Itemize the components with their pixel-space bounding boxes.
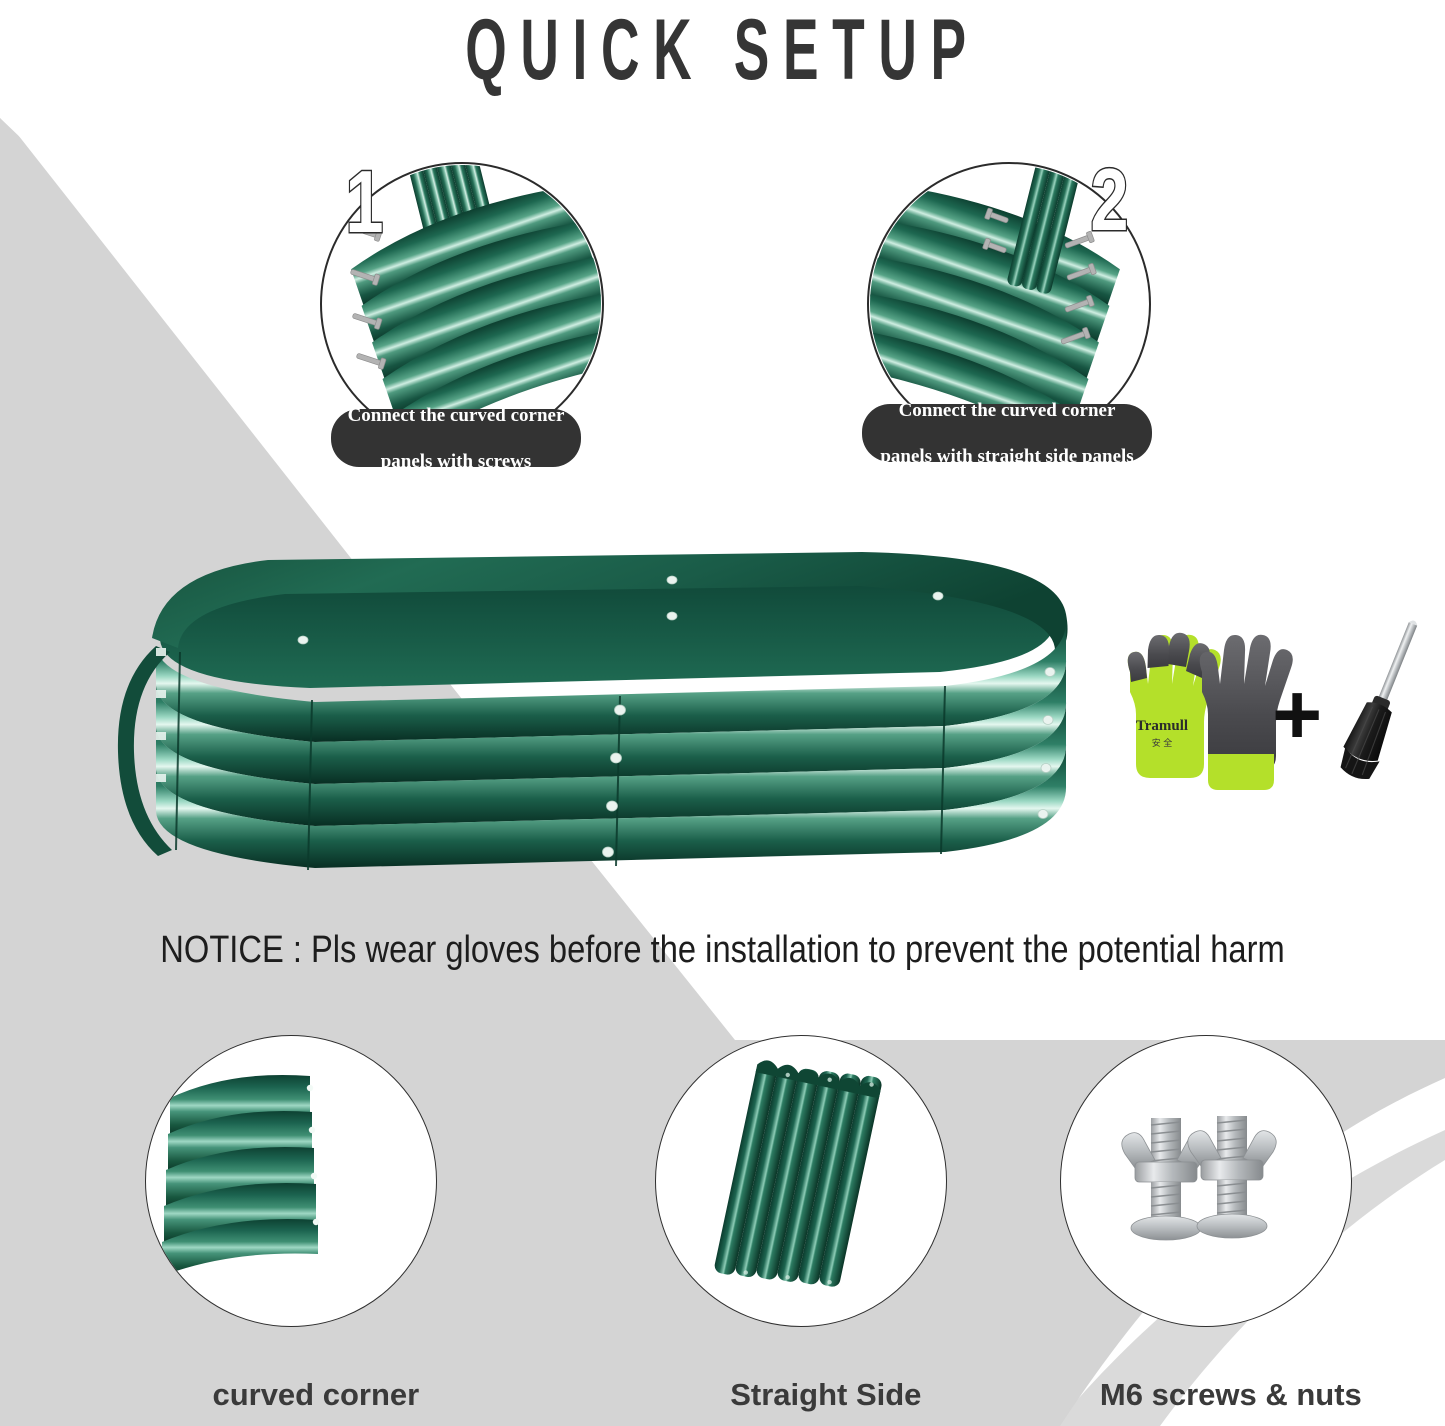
part-1-circle	[145, 1035, 437, 1327]
part-straight-side-panels: Straight Side Panels 4 pcs	[655, 1035, 955, 1335]
plus-icon: +	[1272, 672, 1322, 758]
part-2-label-line1: Straight Side	[730, 1377, 921, 1412]
hero-product-image	[60, 520, 1090, 920]
part-2-label: Straight Side Panels 4 pcs	[625, 1335, 975, 1426]
page-title: QUICK SETUP	[275, 0, 1171, 100]
step-2-caption-line2: panels with straight side panels	[876, 445, 1138, 468]
infographic-canvas: QUICK SETUP	[0, 0, 1445, 1426]
step-2-caption: Connect the curved corner panels with st…	[862, 404, 1152, 462]
part-3-label-line1: M6 screws & nuts	[1100, 1377, 1362, 1412]
part-curved-corner-panels: curved corner panels 8 pcs	[145, 1035, 445, 1335]
part-3-label: M6 screws & nuts 48 sets	[1030, 1335, 1380, 1426]
notice-text: NOTICE : Pls wear gloves before the inst…	[101, 925, 1344, 975]
step-1-number: 1	[345, 158, 383, 246]
svg-text:安 全: 安 全	[1152, 737, 1173, 748]
step-1-caption: Connect the curved corner panels with sc…	[331, 409, 581, 467]
part-1-label: curved corner panels 8 pcs	[115, 1335, 465, 1426]
part-m6-screws-and-nuts: M6 screws & nuts 48 sets	[1060, 1035, 1360, 1335]
part-1-label-line1: curved corner	[212, 1377, 419, 1412]
step-2-number: 2	[1090, 156, 1128, 244]
m6-screws-wing-nuts-graphic	[1061, 1036, 1351, 1326]
glove-brand-label: Tramull	[1136, 718, 1188, 734]
protective-gloves: Tramull 安 全	[1100, 610, 1300, 800]
step-1-caption-line1: Connect the curved corner	[345, 404, 567, 427]
part-3-circle	[1060, 1035, 1352, 1327]
curved-corner-panel-graphic	[146, 1036, 436, 1326]
part-2-circle	[655, 1035, 947, 1327]
step-2-caption-line1: Connect the curved corner	[876, 399, 1138, 422]
straight-side-panel-graphic	[656, 1036, 946, 1326]
step-1-caption-line2: panels with screws	[345, 450, 567, 473]
screwdriver	[1322, 612, 1442, 792]
